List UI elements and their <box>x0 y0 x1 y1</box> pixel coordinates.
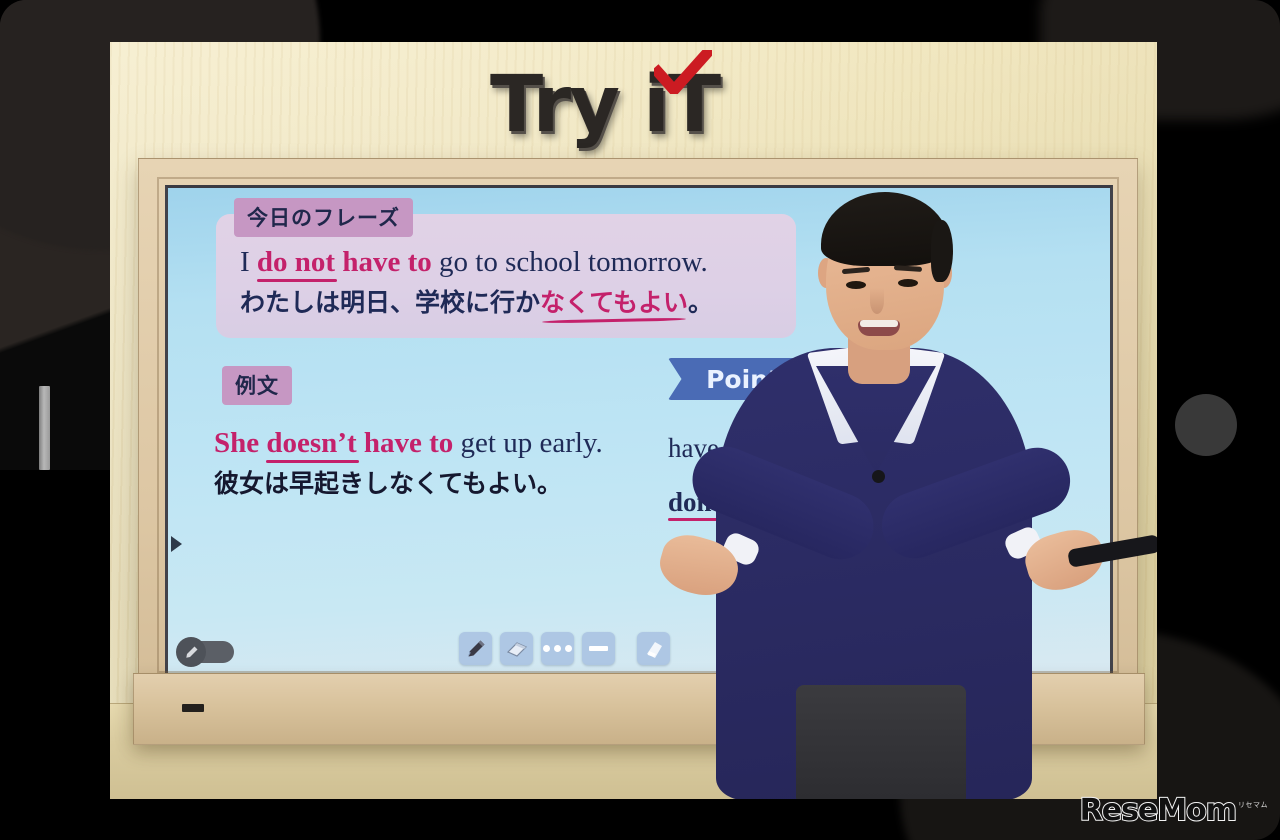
horizontal-bar-icon <box>589 646 608 651</box>
phrase-ja-0: わたしは明日、学校に行か <box>240 288 540 317</box>
wipe-icon <box>643 638 665 660</box>
pen-mode-toggle[interactable] <box>180 641 234 663</box>
pen-tool[interactable] <box>459 632 492 665</box>
teacher-hair <box>821 192 949 266</box>
watermark-superscript: リセマム <box>1238 800 1268 810</box>
more-tool[interactable] <box>541 632 574 665</box>
video-frame[interactable]: Try iT 今日のフレーズ I do not have to go to sc… <box>110 42 1157 799</box>
teacher-mouth <box>858 320 900 336</box>
round-button[interactable] <box>1175 394 1237 456</box>
next-slide-arrow[interactable] <box>171 536 182 552</box>
pencil-icon <box>184 645 199 660</box>
example-en-1: doesn’t <box>266 427 356 459</box>
three-dots-icon <box>543 645 572 652</box>
pen-toggle-knob[interactable] <box>176 637 206 667</box>
phrase-ja-1: なくてもよい <box>540 288 688 317</box>
try-it-logo: Try iT <box>490 52 790 162</box>
teacher-trousers <box>796 685 966 799</box>
pencil-icon <box>465 638 487 660</box>
phrase-english: I do not have to go to school tomorrow. <box>240 244 772 280</box>
teacher-eye-left <box>846 281 866 289</box>
phrase-en-0: I <box>240 246 257 278</box>
example-en-3: get up early. <box>453 427 603 459</box>
teacher <box>696 170 1046 799</box>
whiteboard-toolbar[interactable] <box>459 632 670 665</box>
resemom-watermark: ReseMom リセマム <box>1080 793 1268 828</box>
teacher-eye-right <box>898 279 918 287</box>
line-tool[interactable] <box>582 632 615 665</box>
phrase-en-4: go to school tomorrow. <box>432 246 708 278</box>
phrase-en-1: do not <box>257 246 335 278</box>
red-check-icon <box>654 50 712 94</box>
watermark-text: ReseMom <box>1080 793 1236 828</box>
eraser-tool[interactable] <box>500 632 533 665</box>
teacher-nose <box>870 288 884 314</box>
lapel-microphone <box>872 470 885 483</box>
phrase-japanese: わたしは明日、学校に行かなくてもよい。 <box>240 286 772 320</box>
ledge-label <box>182 704 204 712</box>
phrase-en-3: have to <box>342 246 431 278</box>
phrase-tag: 今日のフレーズ <box>234 198 413 237</box>
eraser-icon <box>505 638 529 660</box>
video-player[interactable]: Try iT 今日のフレーズ I do not have to go to sc… <box>0 0 1280 840</box>
example-en-0: She <box>214 427 266 459</box>
scrub-handle[interactable] <box>39 386 50 470</box>
clear-tool[interactable] <box>637 632 670 665</box>
example-en-2: have to <box>357 427 454 459</box>
example-tag: 例文 <box>222 366 292 405</box>
